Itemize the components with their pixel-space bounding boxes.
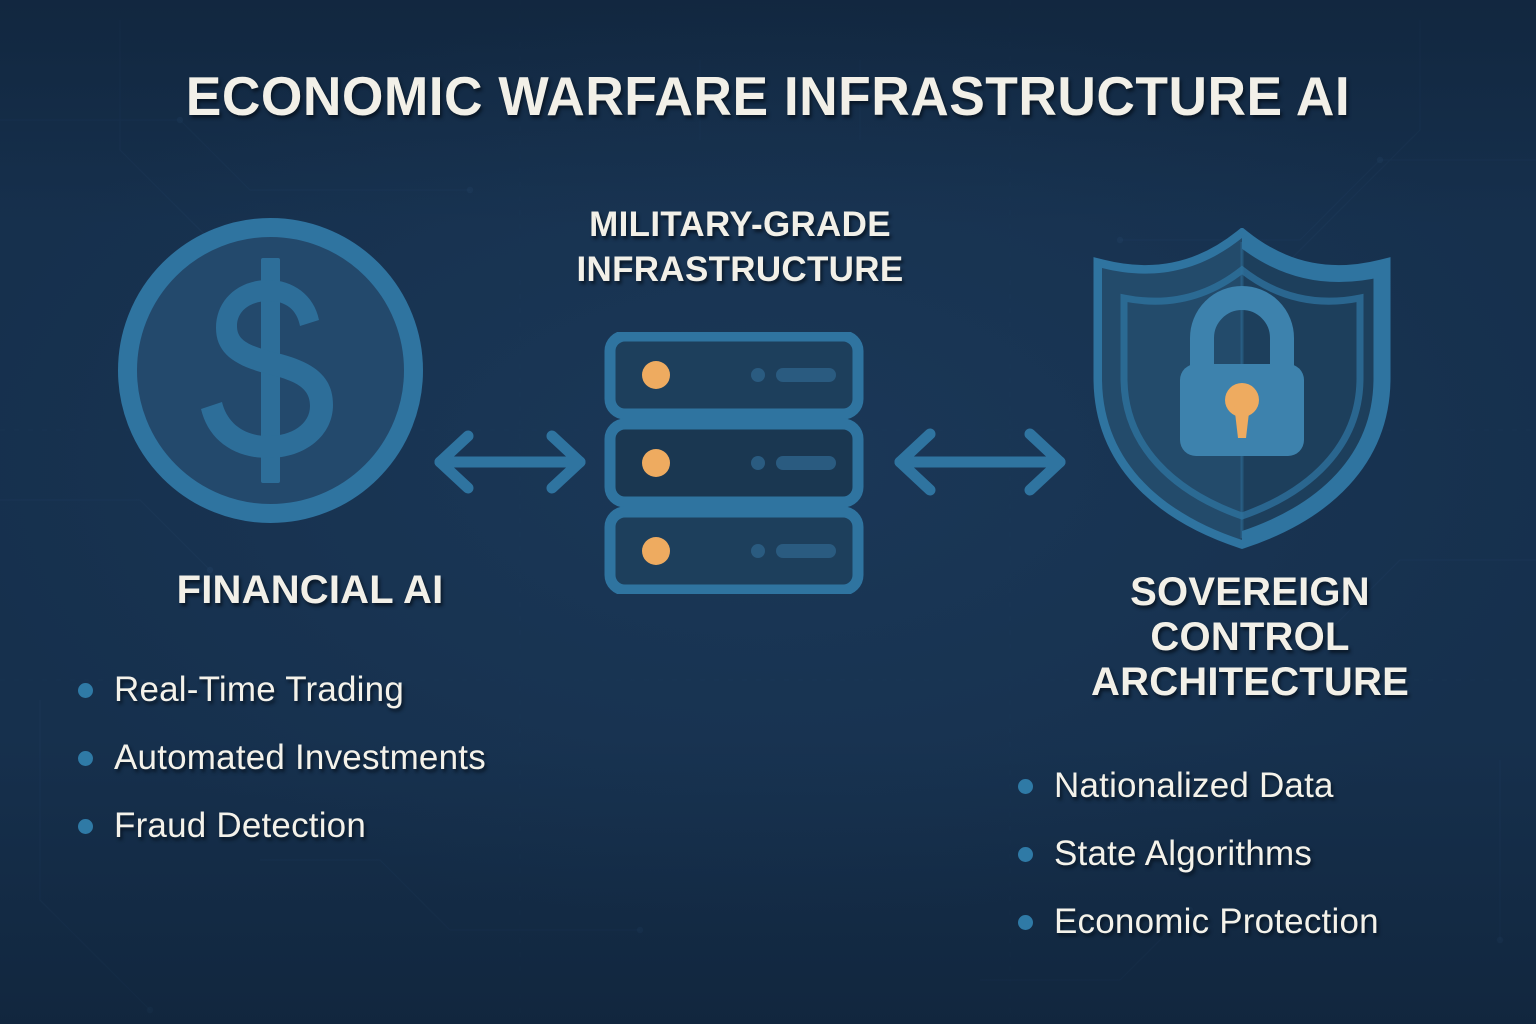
infographic-canvas: ECONOMIC WARFARE INFRASTRUCTURE AI MILIT… (0, 0, 1536, 1024)
server-unit (610, 512, 858, 590)
center-label: MILITARY-GRADE INFRASTRUCTURE (488, 203, 992, 293)
shield-lock-icon (1082, 228, 1402, 550)
center-label-line2: INFRASTRUCTURE (488, 248, 992, 293)
dollar-coin-icon (118, 218, 423, 523)
bullet-dot-icon (78, 819, 93, 834)
list-item-label: Nationalized Data (1054, 766, 1334, 806)
server-unit (610, 424, 858, 502)
list-item: Nationalized Data (1018, 752, 1379, 820)
server-rack-icon (604, 332, 876, 594)
list-item: Automated Investments (78, 724, 486, 792)
right-column-heading: SOVEREIGN CONTROL ARCHITECTURE (1000, 570, 1500, 706)
list-item-label: State Algorithms (1054, 834, 1312, 874)
left-column-bullet-list: Real-Time Trading Automated Investments … (78, 656, 486, 860)
bullet-dot-icon (78, 751, 93, 766)
list-item-label: Real-Time Trading (114, 670, 404, 710)
list-item: Fraud Detection (78, 792, 486, 860)
left-column-heading: FINANCIAL AI (60, 568, 560, 613)
list-item-label: Fraud Detection (114, 806, 366, 846)
list-item: Real-Time Trading (78, 656, 486, 724)
server-unit (610, 336, 858, 414)
list-item: State Algorithms (1018, 820, 1379, 888)
list-item-label: Automated Investments (114, 738, 486, 778)
right-column-heading-line1: SOVEREIGN (1000, 570, 1500, 615)
bullet-dot-icon (78, 683, 93, 698)
page-title: ECONOMIC WARFARE INFRASTRUCTURE AI (23, 68, 1513, 126)
right-connector-arrow-icon (884, 420, 1076, 504)
right-column-bullet-list: Nationalized Data State Algorithms Econo… (1018, 752, 1379, 956)
bullet-dot-icon (1018, 915, 1033, 930)
right-column-heading-line3: ARCHITECTURE (1000, 660, 1500, 705)
right-column-heading-line2: CONTROL (1000, 615, 1500, 660)
list-item: Economic Protection (1018, 888, 1379, 956)
list-item-label: Economic Protection (1054, 902, 1379, 942)
left-connector-arrow-icon (424, 420, 596, 504)
bullet-dot-icon (1018, 779, 1033, 794)
bullet-dot-icon (1018, 847, 1033, 862)
center-label-line1: MILITARY-GRADE (488, 203, 992, 248)
